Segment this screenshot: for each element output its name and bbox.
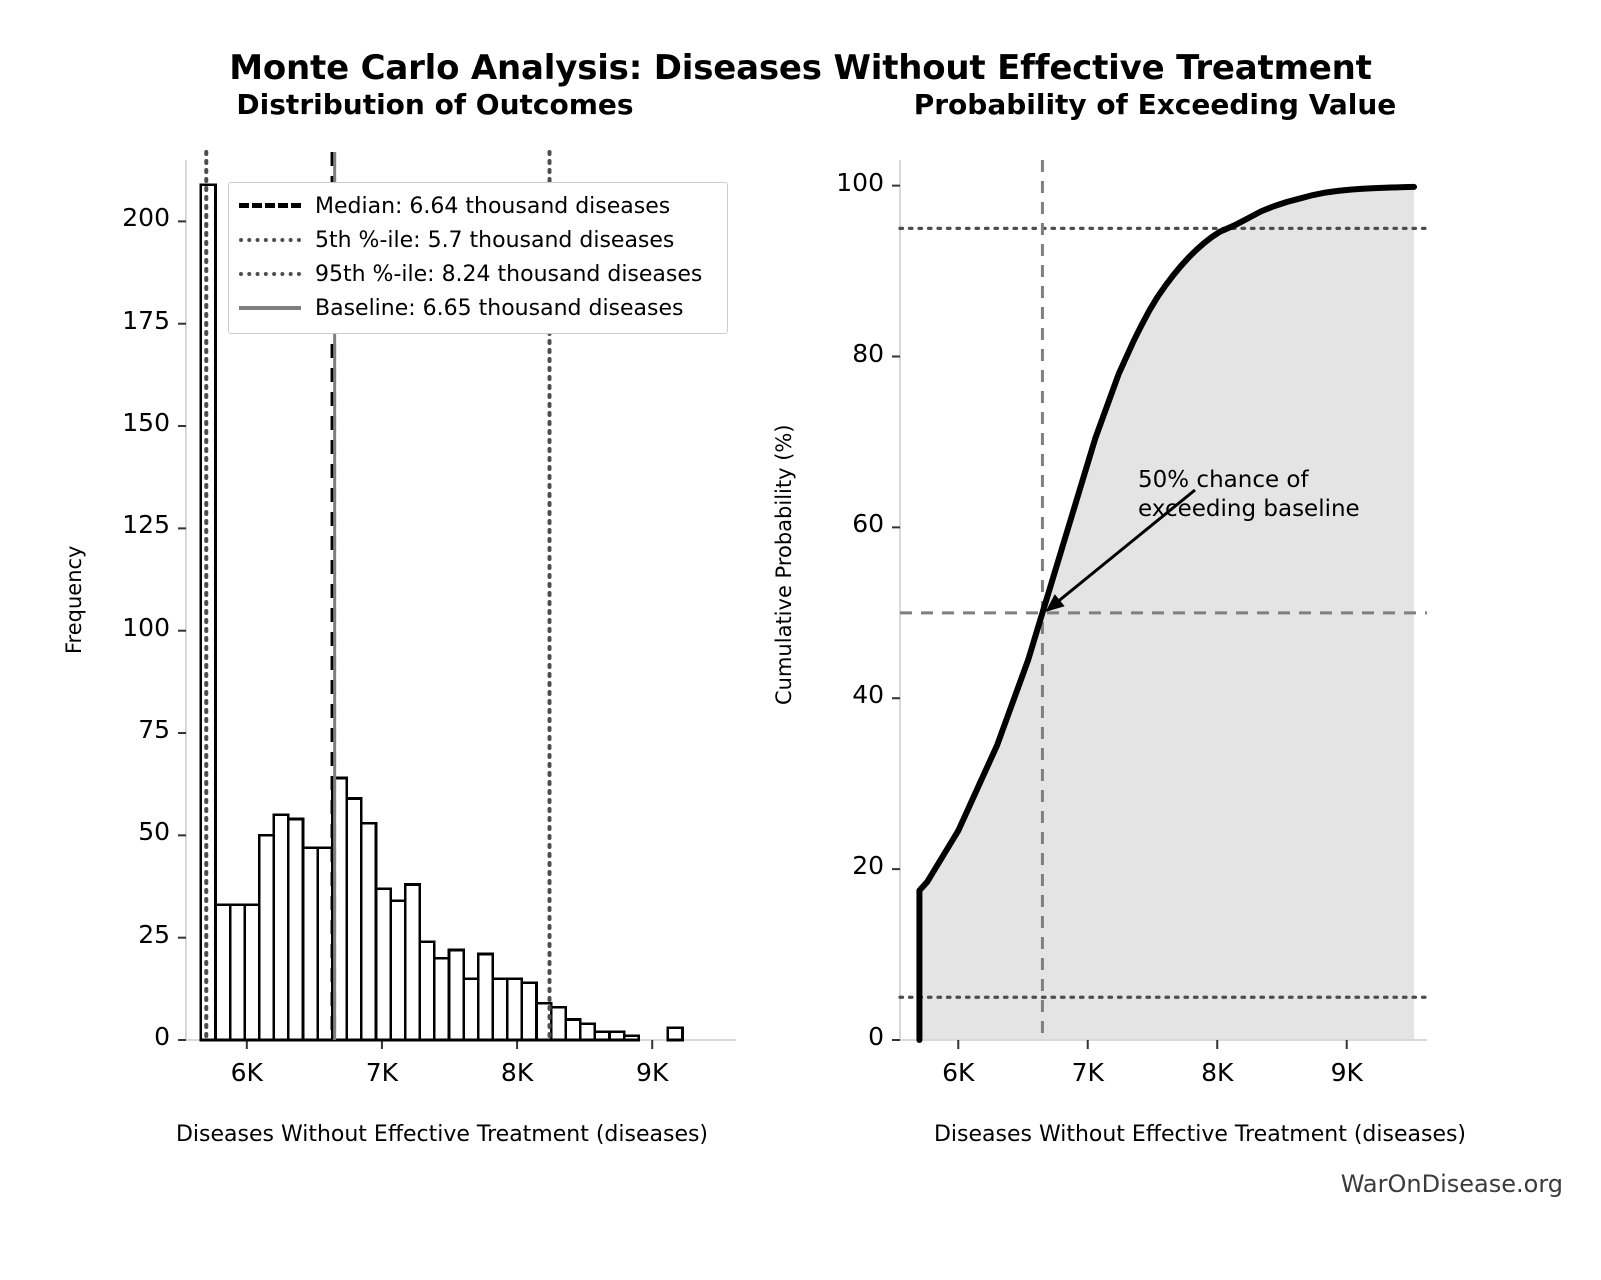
right-panel-title: Probability of Exceeding Value [810, 88, 1500, 121]
cdf-annotation: 50% chance of exceeding baseline [1138, 466, 1360, 524]
tick-label-x: 9K [1287, 1058, 1407, 1087]
legend-item-median: Median: 6.64 thousand diseases [239, 189, 717, 223]
histogram-ylabel: Frequency [62, 520, 86, 680]
legend-label-p5: 5th %-ile: 5.7 thousand diseases [315, 228, 674, 253]
cdf-plot [900, 160, 1427, 1040]
cdf-axes: 0204060801006K7K8K9K [900, 160, 1427, 1040]
tick-label-y: 0 [80, 1022, 170, 1051]
tick-label-x: 8K [457, 1058, 577, 1087]
tick-label-y: 50 [80, 817, 170, 846]
tick-label-y: 175 [80, 306, 170, 335]
left-panel-title: Distribution of Outcomes [110, 88, 760, 121]
tick-label-y: 100 [80, 613, 170, 642]
tick-label-y: 25 [80, 920, 170, 949]
legend-key-dashed-icon [239, 197, 301, 215]
cdf-xlabel: Diseases Without Effective Treatment (di… [840, 1122, 1560, 1147]
legend-key-solid-icon [239, 299, 301, 317]
legend-label-median: Median: 6.64 thousand diseases [315, 194, 670, 219]
legend-item-p5: 5th %-ile: 5.7 thousand diseases [239, 223, 717, 257]
tick-label-y: 20 [794, 851, 884, 880]
cdf-annotation-line1: 50% chance of [1138, 466, 1360, 495]
tick-label-y: 0 [794, 1022, 884, 1051]
tick-label-x: 6K [187, 1058, 307, 1087]
cdf-ylabel: Cumulative Probability (%) [772, 400, 796, 730]
tick-label-y: 100 [794, 168, 884, 197]
tick-label-y: 150 [80, 408, 170, 437]
tick-label-y: 60 [794, 509, 884, 538]
cdf-annotation-line2: exceeding baseline [1138, 495, 1360, 524]
histogram-legend: Median: 6.64 thousand diseases 5th %-ile… [228, 182, 728, 334]
tick-label-y: 75 [80, 715, 170, 744]
tick-label-x: 7K [1028, 1058, 1148, 1087]
figure-suptitle: Monte Carlo Analysis: Diseases Without E… [0, 48, 1601, 88]
tick-label-y: 200 [80, 203, 170, 232]
histogram-xlabel: Diseases Without Effective Treatment (di… [122, 1122, 762, 1147]
tick-label-x: 8K [1157, 1058, 1277, 1087]
figure-footer: WarOnDisease.org [1341, 1170, 1563, 1198]
legend-item-baseline: Baseline: 6.65 thousand diseases [239, 291, 717, 325]
legend-key-dotted-icon [239, 231, 301, 249]
legend-key-dotted-icon-2 [239, 265, 301, 283]
legend-label-baseline: Baseline: 6.65 thousand diseases [315, 296, 684, 321]
tick-label-x: 6K [898, 1058, 1018, 1087]
tick-label-x: 9K [592, 1058, 712, 1087]
tick-label-y: 80 [794, 339, 884, 368]
legend-item-p95: 95th %-ile: 8.24 thousand diseases [239, 257, 717, 291]
tick-label-y: 40 [794, 680, 884, 709]
tick-label-x: 7K [322, 1058, 442, 1087]
legend-label-p95: 95th %-ile: 8.24 thousand diseases [315, 262, 702, 287]
tick-label-y: 125 [80, 510, 170, 539]
